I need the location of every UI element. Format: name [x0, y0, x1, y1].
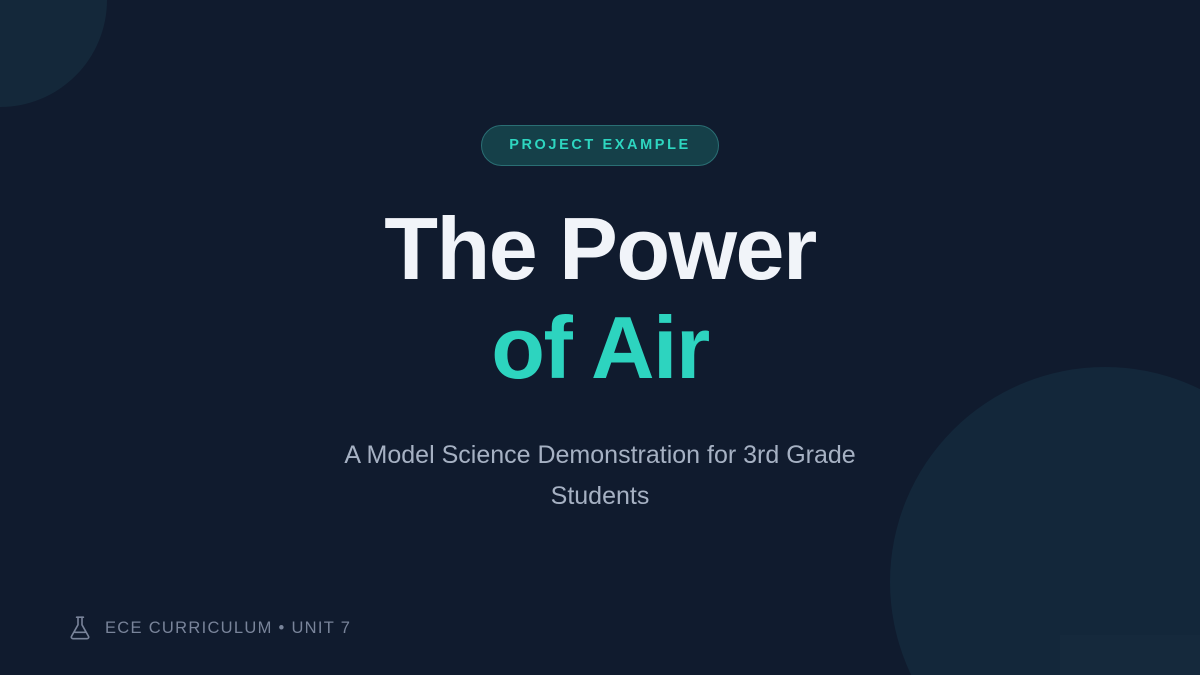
status-badge: PROJECT EXAMPLE — [481, 125, 719, 166]
presentation-slide: PROJECT EXAMPLE The Power of Air A Model… — [0, 0, 1200, 675]
page-title: The Power of Air — [384, 200, 815, 397]
footer-label: ECE CURRICULUM • UNIT 7 — [105, 619, 351, 638]
flask-icon — [68, 615, 92, 641]
slide-content: PROJECT EXAMPLE The Power of Air A Model… — [0, 0, 1200, 675]
title-line-accent: of Air — [384, 299, 815, 398]
slide-subtitle: A Model Science Demonstration for 3rd Gr… — [300, 435, 900, 516]
title-line-primary: The Power — [384, 200, 815, 299]
slide-footer: ECE CURRICULUM • UNIT 7 — [68, 615, 351, 641]
